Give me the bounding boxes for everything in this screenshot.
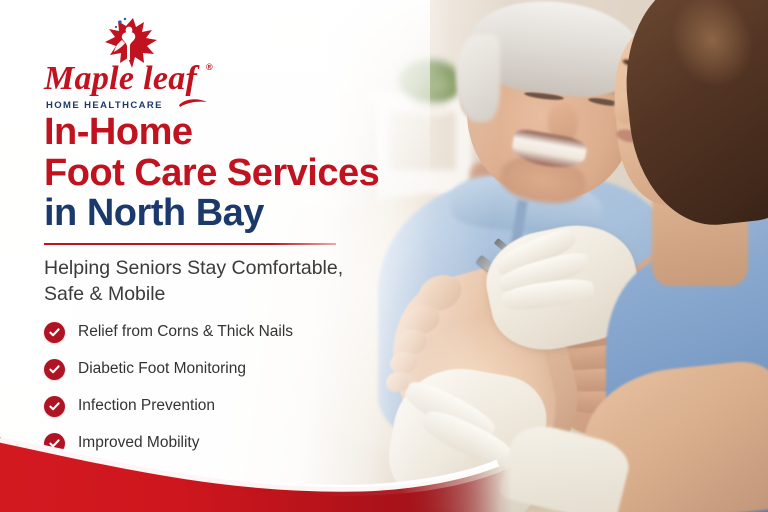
benefit-label: Diabetic Foot Monitoring xyxy=(78,361,246,377)
content-layer: Maple leaf ® HOME HEALTHCARE In-Home Foo… xyxy=(0,0,768,512)
registered-trademark-icon: ® xyxy=(206,62,213,72)
check-circle-icon xyxy=(44,359,65,380)
bottom-wave-graphic xyxy=(0,417,768,512)
promotional-banner: Maple leaf ® HOME HEALTHCARE In-Home Foo… xyxy=(0,0,768,512)
subtitle-line-1: Helping Seniors Stay Comfortable, xyxy=(44,257,343,279)
headline-line-3: in North Bay xyxy=(44,193,464,234)
headline: In-Home Foot Care Services in North Bay xyxy=(44,112,464,234)
benefit-label: Relief from Corns & Thick Nails xyxy=(78,324,293,340)
list-item: Relief from Corns & Thick Nails xyxy=(44,316,374,348)
brand-name: Maple leaf xyxy=(44,62,224,96)
list-item: Diabetic Foot Monitoring xyxy=(44,353,374,385)
check-circle-icon xyxy=(44,322,65,343)
brand-logo[interactable]: Maple leaf ® HOME HEALTHCARE xyxy=(44,16,224,108)
headline-line-2: Foot Care Services xyxy=(44,153,464,194)
headline-line-1: In-Home xyxy=(44,112,464,153)
brand-tagline: HOME HEALTHCARE xyxy=(46,100,226,111)
divider-rule xyxy=(44,243,336,245)
benefit-label: Infection Prevention xyxy=(78,398,215,414)
subtitle-line-2: Safe & Mobile xyxy=(44,283,165,305)
check-circle-icon xyxy=(44,396,65,417)
subtitle: Helping Seniors Stay Comfortable, Safe &… xyxy=(44,256,374,307)
